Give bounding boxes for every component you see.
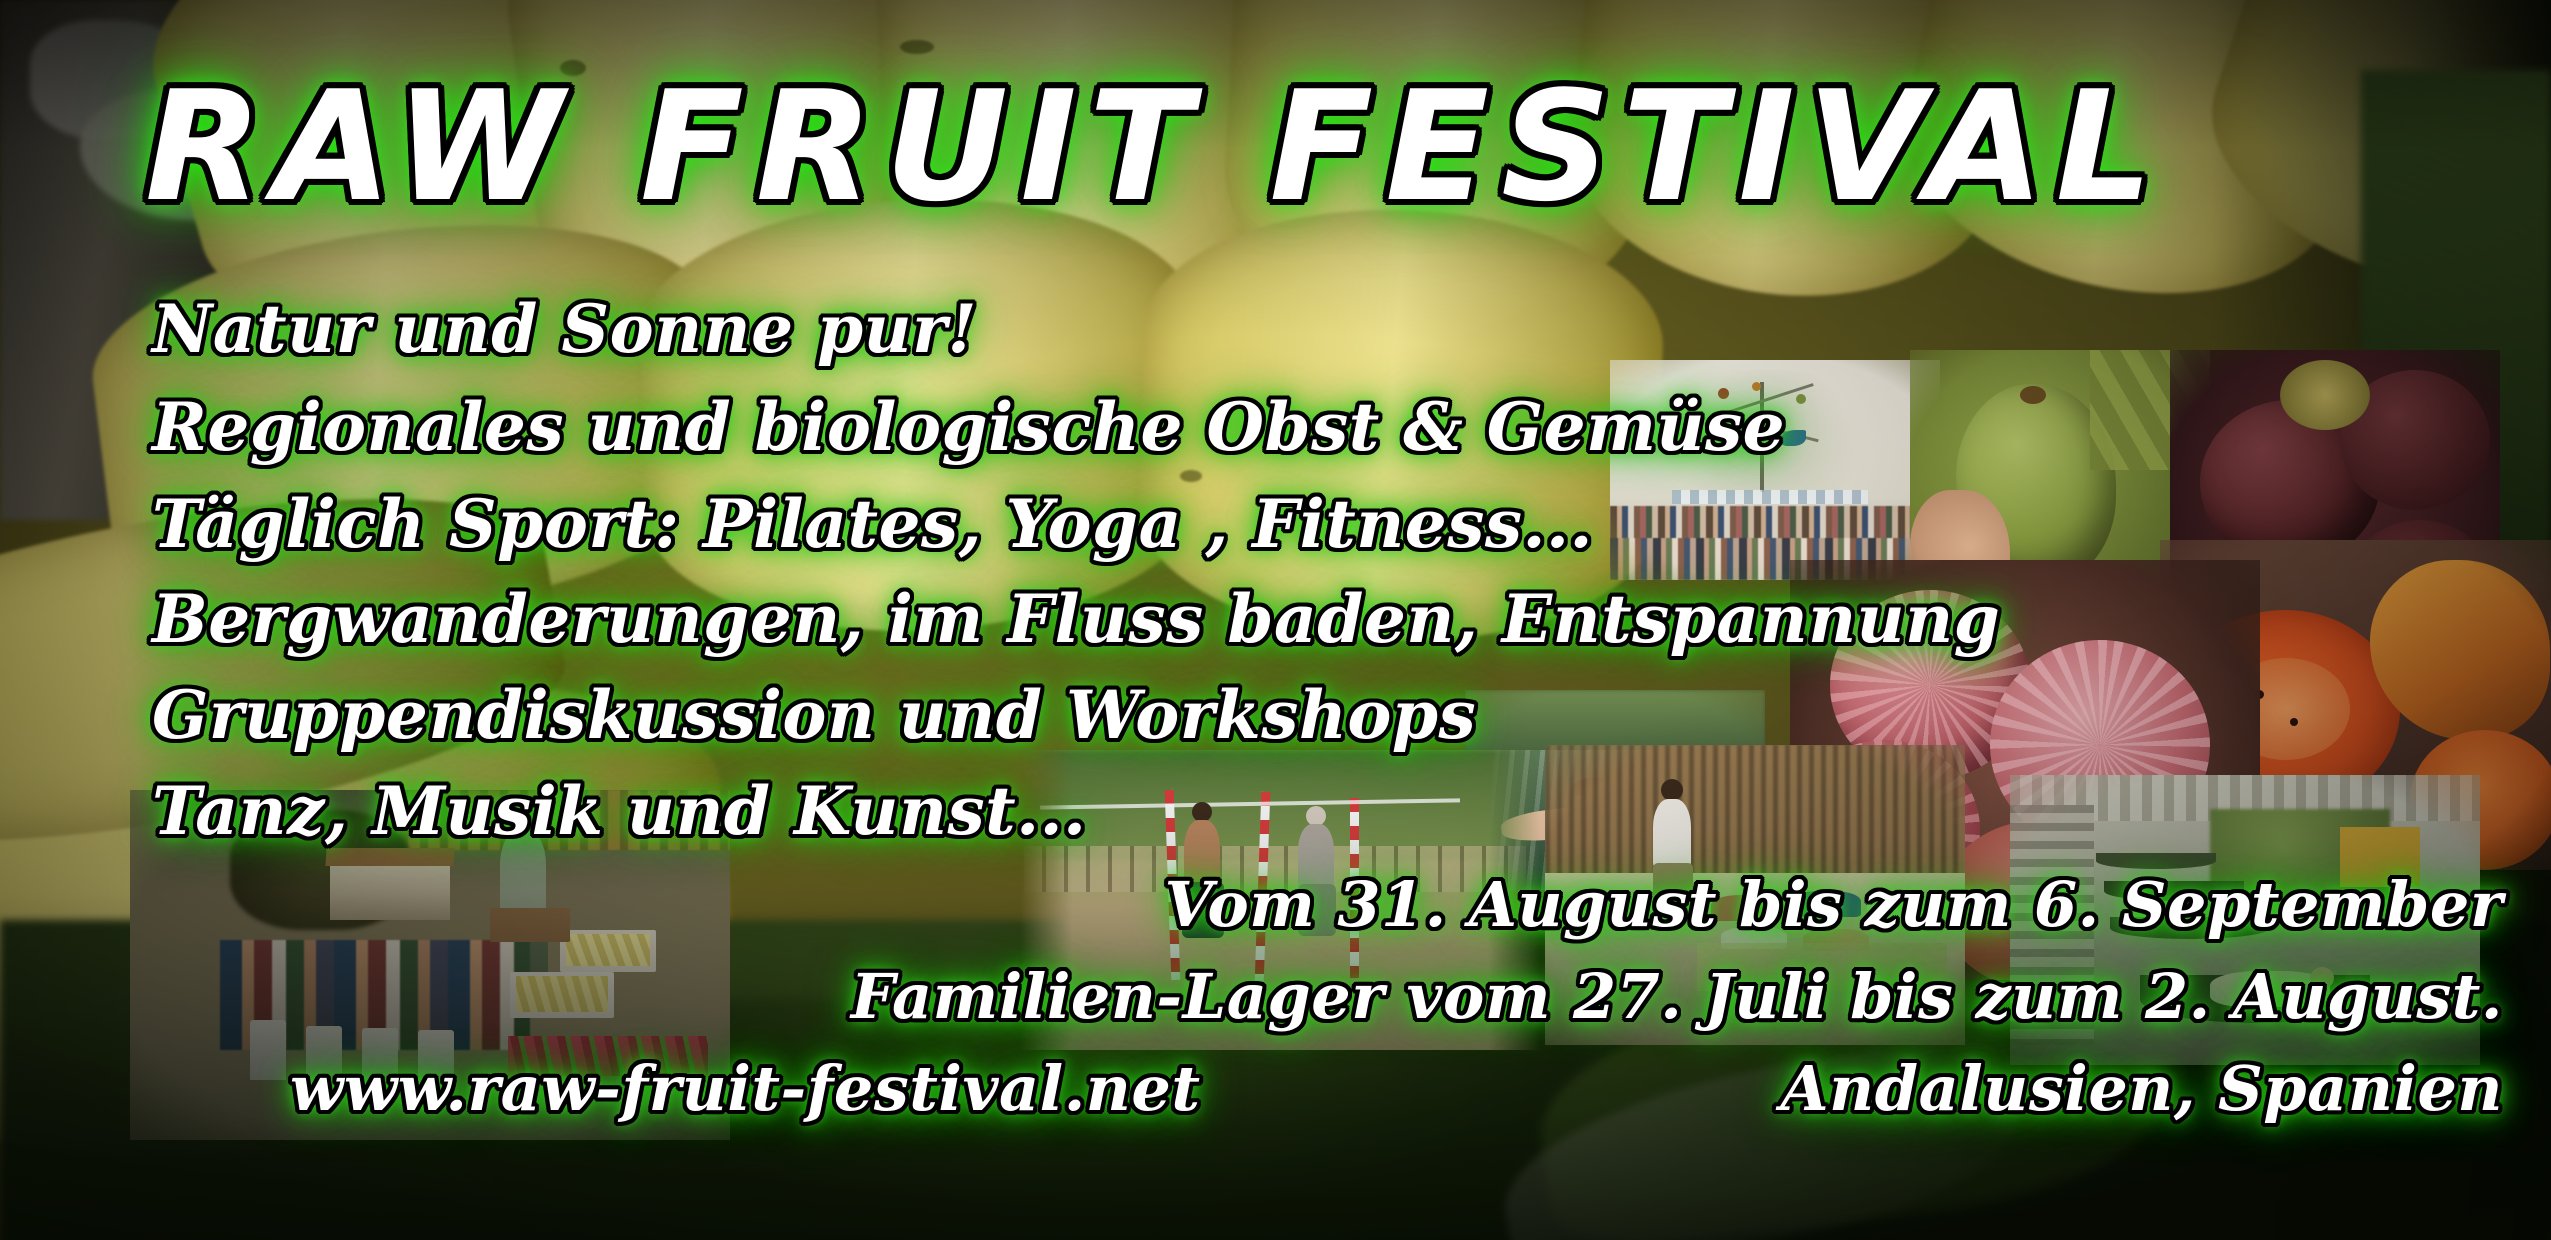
feature-line-5: Tanz, Musik und Kunst...	[152, 772, 1087, 850]
fig-stem	[2020, 386, 2046, 404]
website-link[interactable]: www.raw-fruit-festival.net	[290, 1052, 1200, 1125]
background-building	[330, 860, 450, 920]
plastic-chair	[250, 1020, 286, 1080]
peel-speck	[1180, 470, 1202, 482]
feature-line-3: Bergwanderungen, im Fluss baden, Entspan…	[152, 580, 2000, 658]
location-label: Andalusien, Spanien	[1781, 1052, 2503, 1125]
yoga-instructor-torso	[1653, 799, 1691, 869]
feature-line-1: Regionales und biologische Obst & Gemüse	[152, 388, 1785, 466]
player-head	[1192, 802, 1212, 822]
papaya-seed	[2290, 718, 2298, 726]
produce-crate	[490, 908, 570, 942]
melon-slices-2	[566, 934, 650, 966]
main-dates: Vom 31. August bis zum 6. September	[1164, 868, 2503, 941]
yoga-reed-wall	[1545, 745, 1965, 875]
page-title: RAW FRUIT FESTIVAL	[145, 58, 2165, 235]
feature-line-2: Täglich Sport: Pilates, Yoga , Fitness..…	[152, 485, 1593, 563]
mural-bunting	[1672, 490, 1868, 504]
family-camp-dates: Familien-Lager vom 27. Juli bis zum 2. A…	[851, 960, 2503, 1033]
mangosteen-calyx	[2280, 360, 2370, 430]
poster-canvas: RAW FRUIT FESTIVAL Natur und Sonne pur! …	[0, 0, 2551, 1240]
peel-speck	[900, 40, 934, 54]
player-head	[1306, 806, 1326, 826]
yoga-instructor-head	[1661, 779, 1683, 801]
building-roof	[325, 848, 454, 866]
hammock	[2096, 853, 2216, 869]
tagline: Natur und Sonne pur!	[152, 290, 977, 368]
mural-fruit	[1796, 394, 1806, 404]
melon-slices	[516, 976, 608, 1012]
feature-line-4: Gruppendiskussion und Workshops	[152, 676, 1476, 754]
